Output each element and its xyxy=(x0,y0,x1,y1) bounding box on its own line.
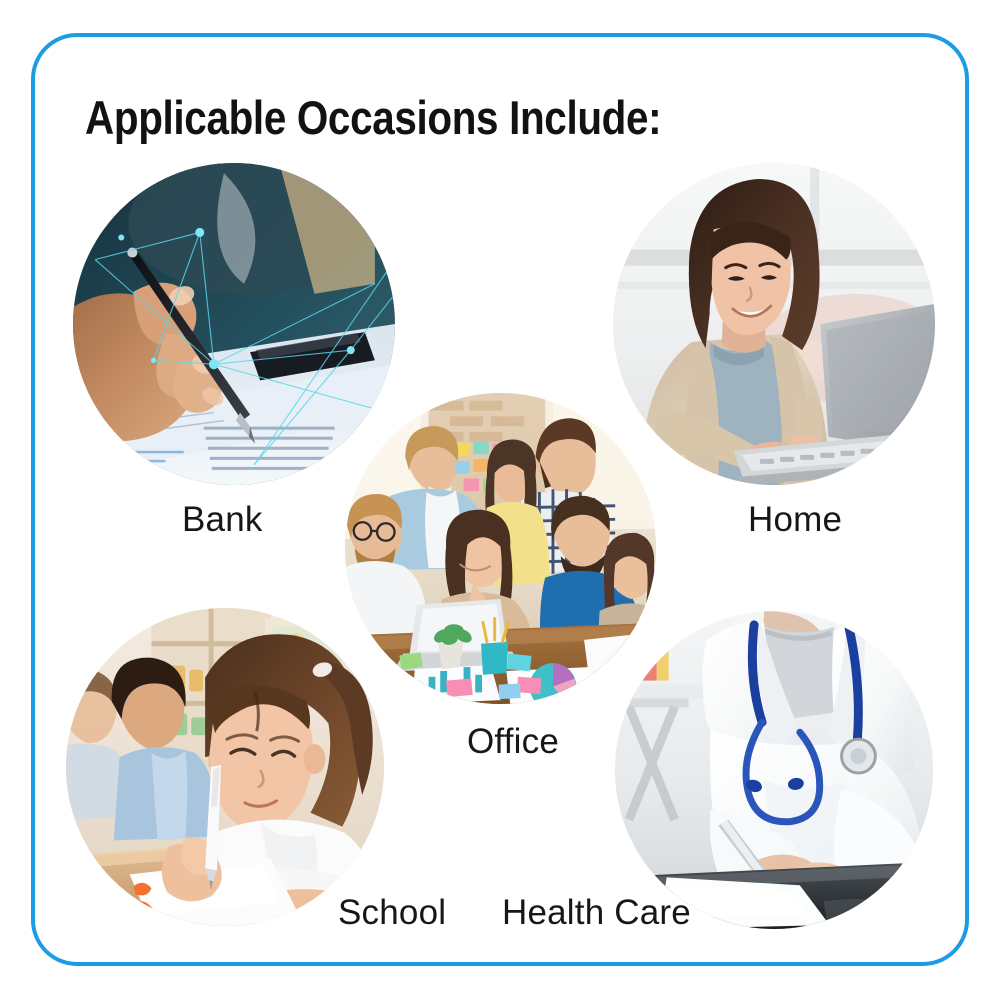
occasion-image-school xyxy=(66,608,384,926)
occasion-image-bank xyxy=(73,163,395,485)
occasion-label-bank: Bank xyxy=(182,500,263,540)
occasion-image-health-care xyxy=(615,611,933,929)
occasion-label-health-care: Health Care xyxy=(502,893,691,933)
occasion-label-home: Home xyxy=(748,500,842,540)
page-title: Applicable Occasions Include: xyxy=(85,94,661,141)
occasion-image-home xyxy=(613,163,935,485)
occasion-image-office xyxy=(345,393,656,704)
occasion-label-office: Office xyxy=(467,722,559,762)
infographic-canvas: Applicable Occasions Include: xyxy=(0,0,1000,1000)
occasion-label-school: School xyxy=(338,893,446,933)
